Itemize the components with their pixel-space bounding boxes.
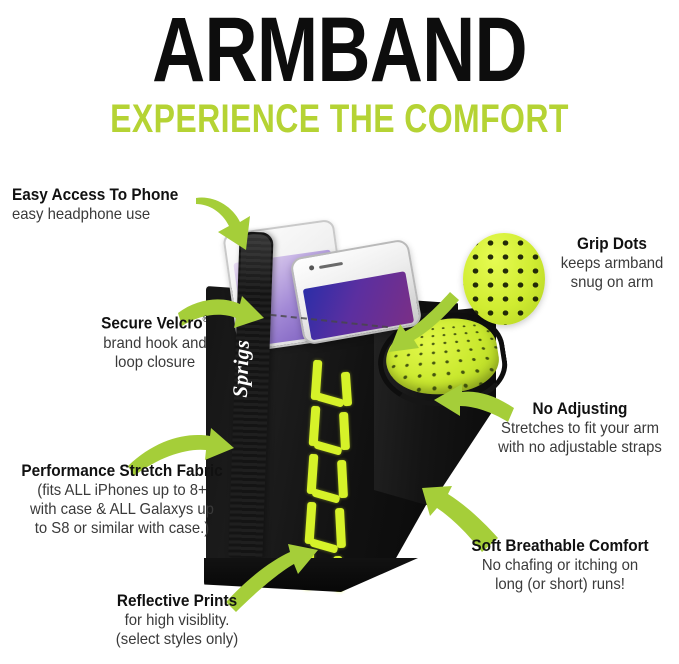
callout-headline: Secure Velcro® xyxy=(62,310,248,334)
callout-subline: No chafing or itching on xyxy=(451,556,669,575)
header: ARMBAND EXPERIENCE THE COMFORT xyxy=(0,0,679,140)
callout-soft-comfort: Soft Breathable Comfort No chafing or it… xyxy=(443,537,677,594)
callout-subline: Stretches to fit your arm xyxy=(489,419,671,438)
callout-reflective-prints: Reflective Prints for high visiblity. (s… xyxy=(68,592,286,649)
callout-subline: easy headphone use xyxy=(12,205,178,224)
callout-headline: Reflective Prints xyxy=(76,592,279,611)
callout-subline: loop closure xyxy=(62,353,248,372)
infographic-canvas: ARMBAND EXPERIENCE THE COMFORT Sprigs xyxy=(0,0,679,664)
callout-subline: (fits ALL iPhones up to 8+ xyxy=(9,481,236,500)
callout-subline: with no adjustable straps xyxy=(489,438,671,457)
callout-grip-dots: Grip Dots keeps armband snug on arm xyxy=(548,235,676,292)
callout-subline: to S8 or similar with case.) xyxy=(9,519,236,538)
callout-subline: (select styles only) xyxy=(76,630,279,649)
callout-subline: snug on arm xyxy=(552,273,671,292)
callout-subline: for high visiblity. xyxy=(76,611,279,630)
armband-bottom-edge xyxy=(204,558,418,592)
callout-headline: No Adjusting xyxy=(489,400,671,419)
callout-easy-access: Easy Access To Phone easy headphone use xyxy=(12,186,191,224)
callout-no-adjusting: No Adjusting Stretches to fit your arm w… xyxy=(482,400,678,457)
callout-headline: Performance Stretch Fabric xyxy=(9,462,236,481)
page-title: ARMBAND xyxy=(68,0,611,96)
callout-secure-velcro: Secure Velcro® brand hook and loop closu… xyxy=(55,310,255,372)
grip-dots-swatch xyxy=(463,233,545,325)
callout-subline: keeps armband xyxy=(552,254,671,273)
registered-trademark-icon: ® xyxy=(203,314,209,324)
callout-headline: Grip Dots xyxy=(552,235,671,254)
phone-speaker-icon xyxy=(319,262,343,269)
callout-performance-fabric: Performance Stretch Fabric (fits ALL iPh… xyxy=(0,462,244,538)
callout-subline: long (or short) runs! xyxy=(451,575,669,594)
callout-headline: Soft Breathable Comfort xyxy=(451,537,669,556)
callout-headline: Easy Access To Phone xyxy=(12,186,178,205)
reflective-prints-graphic xyxy=(308,360,382,592)
page-subtitle: EXPERIENCE THE COMFORT xyxy=(68,96,611,140)
callout-subline: with case & ALL Galaxys up xyxy=(9,500,236,519)
phone-camera-icon xyxy=(309,265,315,271)
callout-subline: brand hook and xyxy=(62,334,248,353)
